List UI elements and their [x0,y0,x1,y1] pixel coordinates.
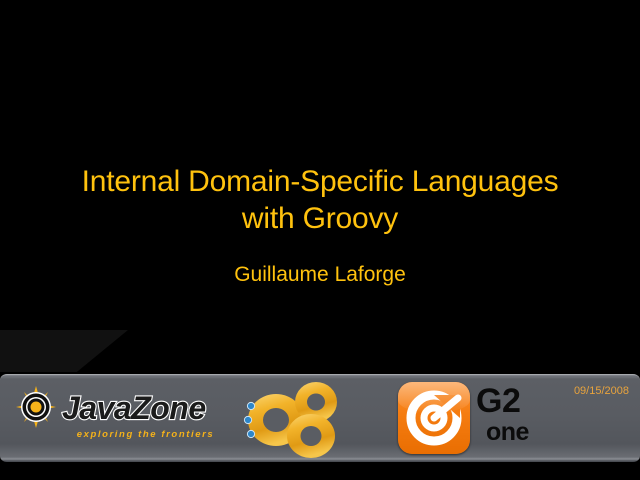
g2one-logo: G2 one [398,382,563,454]
footer-bar: JavaZone exploring the frontiers [0,374,640,462]
g2one-line-1: G2 [476,384,564,418]
decorative-wedge [0,330,128,372]
svg-text:JavaZone: JavaZone [62,390,206,426]
slide-subtitle-author: Guillaume Laforge [0,262,640,288]
javazone-tagline: exploring the frontiers [59,429,232,440]
javazone-logo: JavaZone exploring the frontiers [14,386,232,446]
footer-content: JavaZone exploring the frontiers [0,374,640,462]
javazone-target-icon [21,392,51,422]
presentation-slide: Internal Domain-Specific Languages with … [0,0,640,480]
slide-title: Internal Domain-Specific Languages with … [0,163,640,237]
g2one-spiral-icon [398,382,470,454]
footer-date: 09/15/2008 [574,385,629,397]
title-line-1: Internal Domain-Specific Languages [0,163,640,200]
javazone-wordmark-icon: JavaZone [14,386,232,428]
g2one-wordmark: G2 one [476,384,564,452]
zero-eight-rings-logo [240,378,345,460]
g2one-icon-gloss [398,382,470,412]
title-line-2: with Groovy [0,200,640,237]
g2one-line-2: one [486,420,564,445]
